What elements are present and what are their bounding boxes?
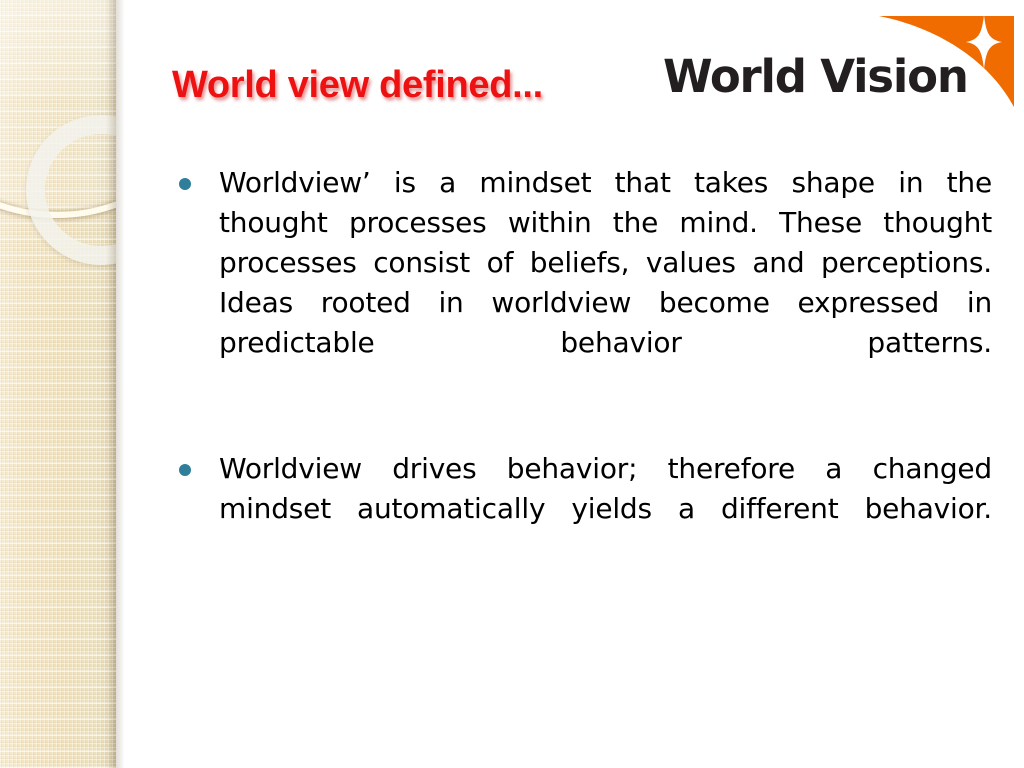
bullet-dot-icon [179, 464, 191, 476]
logo-sail-shape [879, 16, 1014, 107]
world-vision-logo: World Vision [655, 0, 1024, 118]
slide-canvas: World view defined... World Vision World… [0, 0, 1024, 768]
page-title: World view defined... [172, 64, 543, 107]
list-item: Worldview’ is a mindset that takes shape… [172, 163, 992, 403]
list-item: Worldview drives behavior; therefore a c… [172, 449, 992, 569]
logo-sail-mark [873, 9, 1018, 109]
bullet-text: Worldview’ is a mindset that takes shape… [219, 163, 992, 403]
content-body: Worldview’ is a mindset that takes shape… [172, 163, 992, 569]
bullet-dot-icon [179, 178, 191, 190]
decorative-sidebar-band [0, 0, 116, 768]
bullet-text: Worldview drives behavior; therefore a c… [219, 449, 992, 569]
sidebar-drop-shadow [116, 0, 125, 768]
sidebar-inner-edge-shade [106, 0, 116, 768]
